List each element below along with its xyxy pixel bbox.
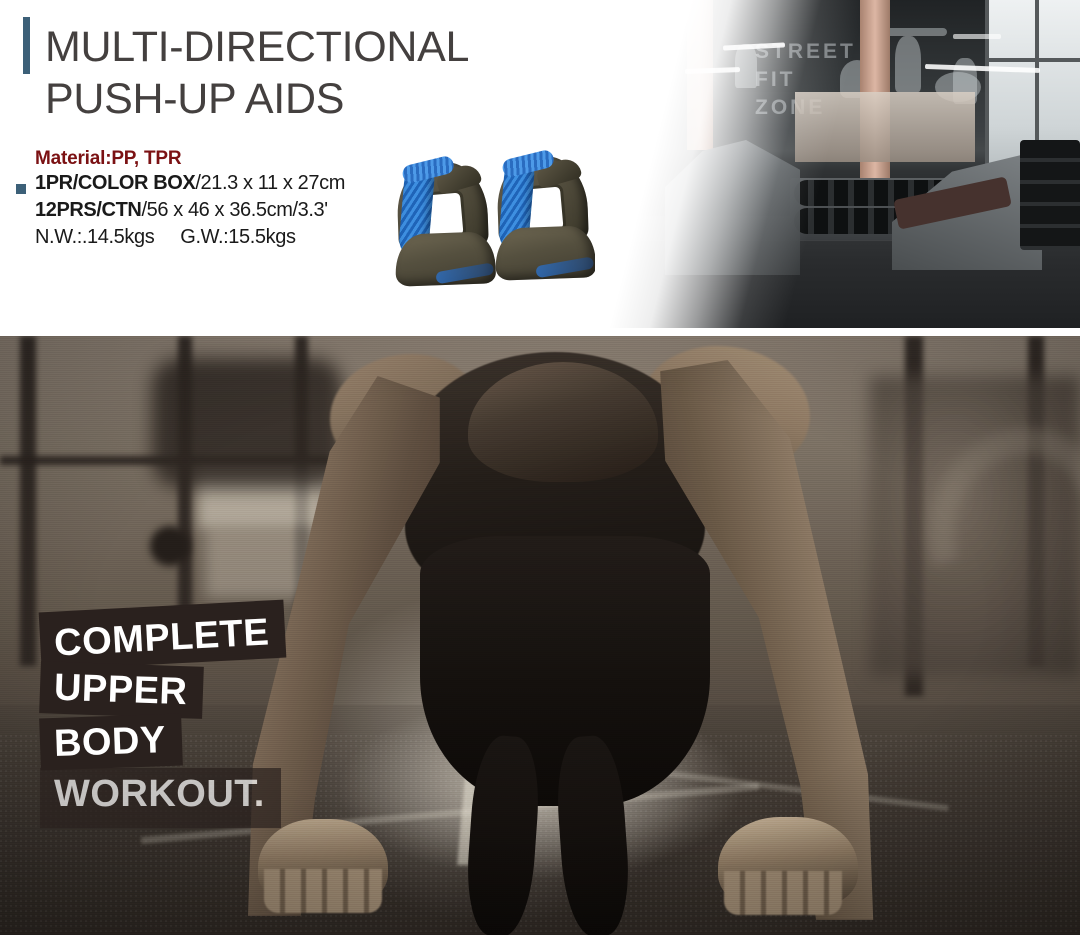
gym-interior-photo: STREET FIT ZONE <box>595 0 1080 328</box>
overlay-line-complete: COMPLETE <box>39 600 287 671</box>
net-weight-value: N.W.:.14.5kgs <box>35 226 154 248</box>
specifications-block: Material:PP, TPR 1PR/COLOR BOX/21.3 x 11… <box>16 148 436 251</box>
page-title: MULTI-DIRECTIONAL PUSH-UP AIDS <box>45 21 605 125</box>
page-title-line-1: MULTI-DIRECTIONAL <box>45 23 469 71</box>
packing-carton-dimensions: /56 x 46 x 36.5cm/3.3' <box>141 199 327 221</box>
packing-carton-label: 12PRS/CTN <box>35 199 141 221</box>
weights-row: N.W.:.14.5kgsG.W.:15.5kgs <box>35 224 436 251</box>
packing-unit-row: 1PR/COLOR BOX/21.3 x 11 x 27cm <box>35 170 436 197</box>
hero-overlay-headline: COMPLETE UPPER BODY WORKOUT. <box>40 606 285 828</box>
bar-base <box>494 225 596 280</box>
product-image <box>392 152 607 282</box>
overlay-line-workout: WORKOUT. <box>40 768 281 828</box>
bullet-square-icon <box>16 184 26 194</box>
overlay-line-upper: UPPER <box>39 661 204 719</box>
push-up-bar-left <box>390 158 499 287</box>
product-marketing-page: MULTI-DIRECTIONAL PUSH-UP AIDS Material:… <box>0 0 1080 935</box>
top-banner: MULTI-DIRECTIONAL PUSH-UP AIDS Material:… <box>0 0 1080 328</box>
bar-base <box>394 231 496 286</box>
packing-unit-label: 1PR/COLOR BOX <box>35 172 195 194</box>
overlay-line-body: BODY <box>39 714 183 771</box>
push-up-bar-right <box>490 152 599 281</box>
material-label: Material:PP, TPR <box>35 148 436 170</box>
page-title-line-2: PUSH-UP AIDS <box>45 75 344 123</box>
photo-fade-gradient <box>595 0 1080 328</box>
title-accent-bar <box>23 17 30 74</box>
packing-unit-dimensions: /21.3 x 11 x 27cm <box>195 172 345 194</box>
gross-weight-value: G.W.:15.5kgs <box>180 226 295 248</box>
packing-carton-row: 12PRS/CTN/56 x 46 x 36.5cm/3.3' <box>35 197 436 224</box>
